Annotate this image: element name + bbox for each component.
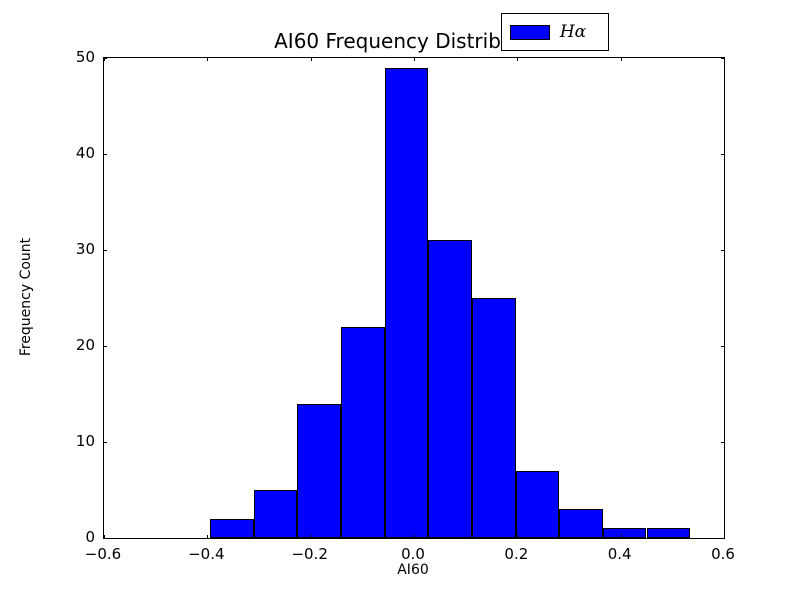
histogram-bar [385, 68, 429, 538]
x-tick-mark [207, 535, 208, 539]
histogram-bar [210, 519, 254, 538]
y-tick-label: 30 [49, 240, 95, 258]
x-tick-label: 0.6 [711, 545, 735, 563]
y-tick-label: 0 [49, 528, 95, 546]
y-tick-mark-right [721, 154, 725, 155]
y-tick-mark [103, 442, 107, 443]
x-tick-label: −0.4 [188, 545, 224, 563]
chart-title: AI60 Frequency Distribution [103, 29, 723, 53]
x-tick-mark-top [517, 57, 518, 61]
x-tick-label: −0.6 [85, 545, 121, 563]
y-tick-mark [103, 346, 107, 347]
y-tick-mark-right [721, 538, 725, 539]
y-tick-mark [103, 538, 107, 539]
x-axis-label: AI60 [103, 562, 723, 578]
legend-label-halpha: Hα [550, 22, 600, 42]
histogram-bar [603, 528, 647, 538]
plot-area [103, 57, 725, 539]
histogram-bar [472, 298, 516, 538]
y-tick-label: 20 [49, 336, 95, 354]
x-tick-mark [311, 535, 312, 539]
x-tick-mark-top [621, 57, 622, 61]
legend-box: Hα [501, 13, 609, 51]
histogram-bar [297, 404, 341, 538]
x-tick-mark-top [311, 57, 312, 61]
x-tick-label: 0.4 [608, 545, 632, 563]
x-tick-mark-top [207, 57, 208, 61]
y-tick-mark-right [721, 442, 725, 443]
histogram-bar [341, 327, 385, 538]
histogram-bars [104, 58, 724, 538]
figure-canvas: AI60 Frequency Distribution −0.6−0.4−0.2… [0, 0, 800, 600]
y-tick-label: 10 [49, 432, 95, 450]
y-tick-mark [103, 58, 107, 59]
y-tick-mark [103, 154, 107, 155]
x-tick-mark-top [414, 57, 415, 61]
histogram-bar [559, 509, 603, 538]
y-tick-label: 50 [49, 48, 95, 66]
y-tick-mark-right [721, 250, 725, 251]
histogram-bar [428, 240, 472, 538]
x-tick-mark [621, 535, 622, 539]
y-axis-label: Frequency Count [18, 238, 34, 356]
y-tick-mark [103, 250, 107, 251]
x-tick-label: −0.2 [291, 545, 327, 563]
histogram-bar [647, 528, 691, 538]
x-tick-label: 0.0 [401, 545, 425, 563]
x-tick-label: 0.2 [504, 545, 528, 563]
histogram-bar [254, 490, 298, 538]
histogram-bar [516, 471, 560, 538]
y-tick-mark-right [721, 346, 725, 347]
x-tick-mark [414, 535, 415, 539]
y-tick-label: 40 [49, 144, 95, 162]
y-tick-mark-right [721, 58, 725, 59]
x-tick-mark [517, 535, 518, 539]
legend-swatch-halpha [510, 25, 550, 40]
